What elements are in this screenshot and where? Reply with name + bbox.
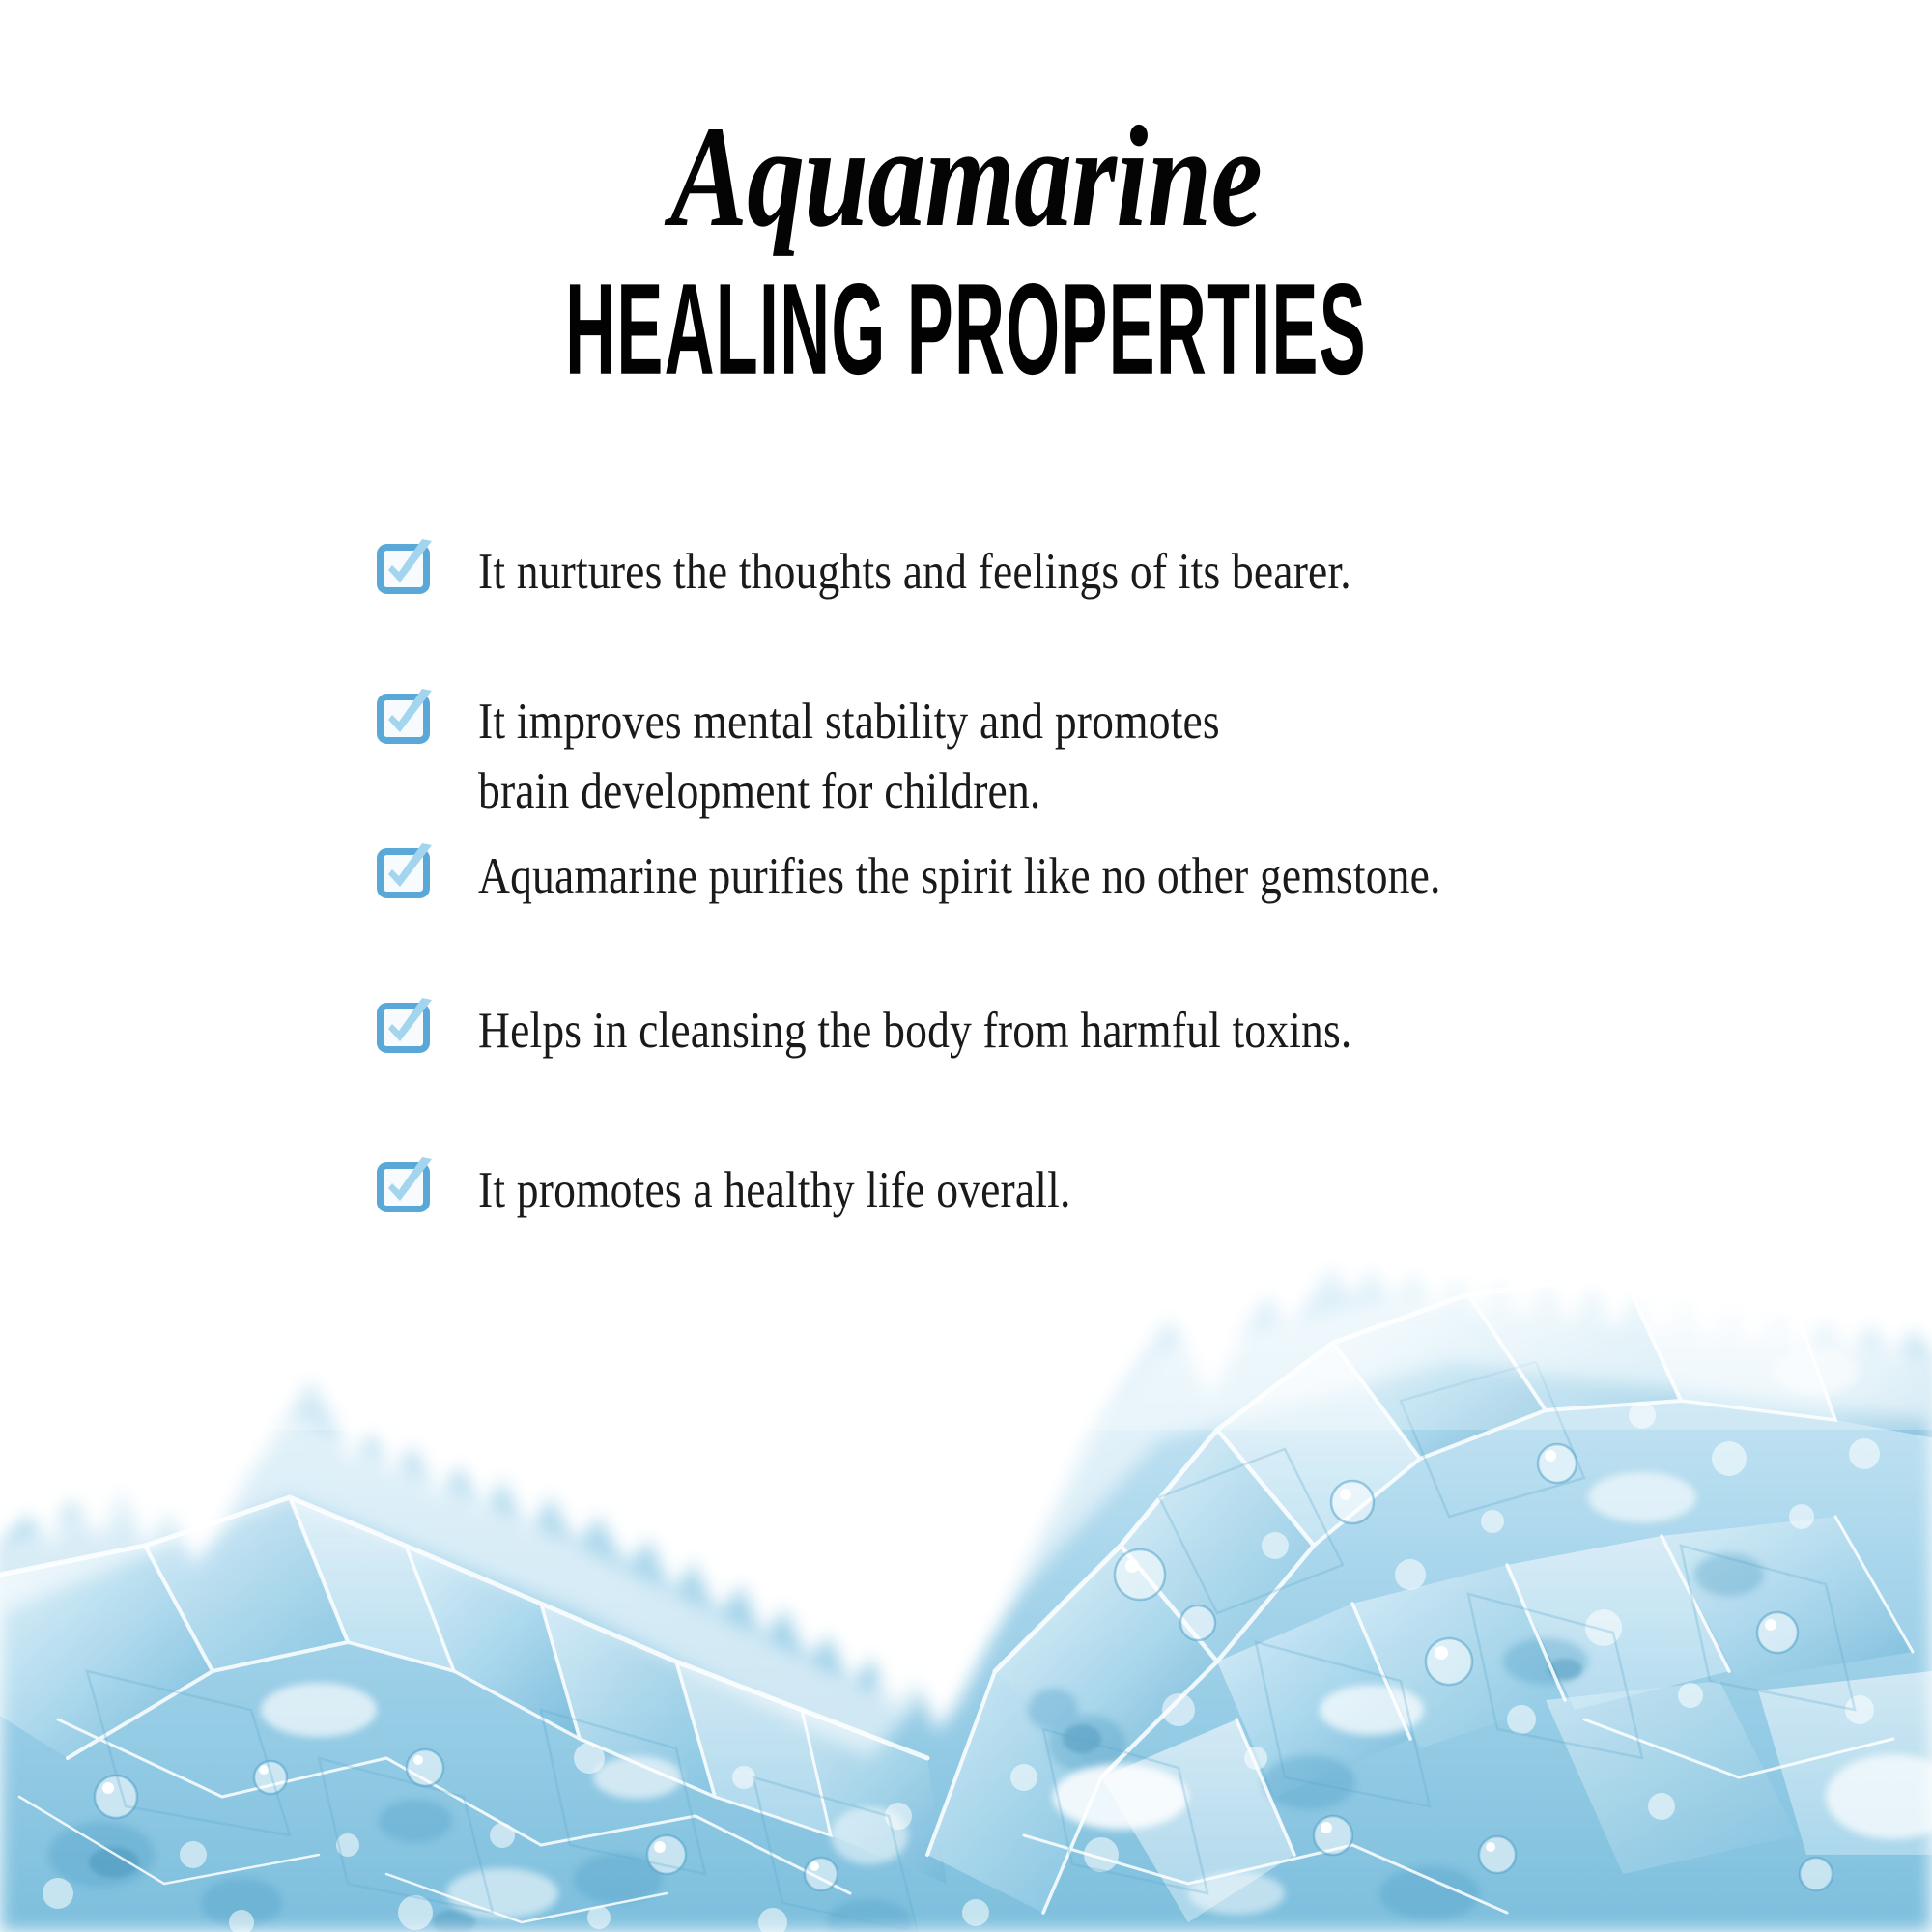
- checked-checkbox-icon: [377, 845, 433, 901]
- list-item-label: It promotes a healthy life overall.: [478, 1155, 1621, 1225]
- checked-checkbox-icon: [377, 541, 433, 597]
- poster-canvas: Aquamarine HEALING PROPERTIES It nurture…: [0, 0, 1932, 1932]
- list-item: It improves mental stability and promote…: [377, 687, 1806, 841]
- list-item: It nurtures the thoughts and feelings of…: [377, 537, 1806, 687]
- list-item-label: Helps in cleansing the body from harmful…: [478, 996, 1621, 1065]
- header: Aquamarine HEALING PROPERTIES: [0, 0, 1932, 379]
- list-item: Aquamarine purifies the spirit like no o…: [377, 841, 1806, 996]
- list-item: Helps in cleansing the body from harmful…: [377, 996, 1806, 1155]
- list-item: It promotes a healthy life overall.: [377, 1155, 1806, 1225]
- list-item-label: It nurtures the thoughts and feelings of…: [478, 537, 1621, 607]
- page-title: Aquamarine: [193, 0, 1739, 249]
- list-item-label: Aquamarine purifies the spirit like no o…: [478, 841, 1621, 911]
- ice-cubes-photo: [0, 1256, 1932, 1932]
- list-item-label: It improves mental stability and promote…: [478, 687, 1621, 826]
- page-subtitle: HEALING PROPERTIES: [386, 249, 1546, 394]
- checked-checkbox-icon: [377, 1000, 433, 1056]
- checked-checkbox-icon: [377, 1159, 433, 1215]
- healing-properties-list: It nurtures the thoughts and feelings of…: [377, 537, 1806, 1225]
- checked-checkbox-icon: [377, 691, 433, 747]
